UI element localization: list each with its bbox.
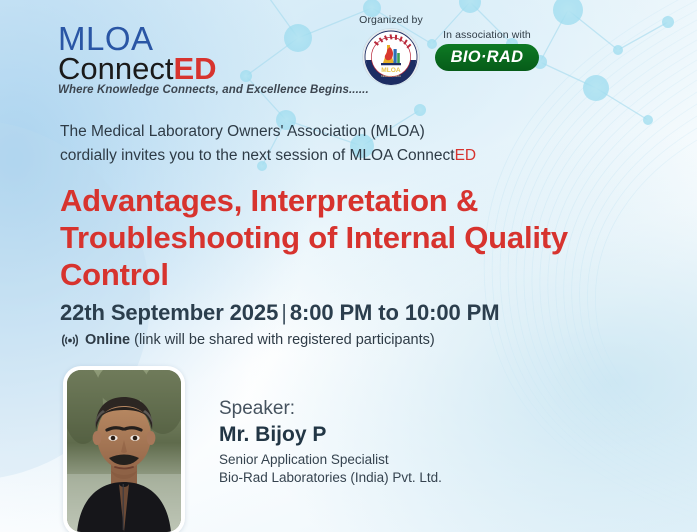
organizer-block: Organized by: [349, 14, 433, 85]
poster-header: MLOA ConnectED Where Knowledge Connects,…: [0, 0, 697, 112]
invitation-ed-accent: ED: [455, 147, 477, 164]
event-poster: MLOA ConnectED Where Knowledge Connects,…: [0, 0, 697, 532]
brand-tagline: Where Knowledge Connects, and Excellence…: [58, 85, 369, 97]
association-block: In association with BIO·RAD: [423, 29, 551, 71]
mloa-connected-logo: MLOA ConnectED Where Knowledge Connects,…: [58, 22, 369, 97]
invitation-line-1: The Medical Laboratory Owners' Associati…: [60, 120, 476, 144]
invitation-line-2: cordially invites you to the next sessio…: [60, 144, 476, 168]
speaker-photo: [67, 370, 181, 532]
bio-rad-logo: BIO·RAD: [435, 44, 539, 71]
speaker-photo-frame: [63, 366, 185, 532]
speaker-name: Mr. Bijoy P: [219, 422, 442, 448]
broadcast-icon: [60, 333, 80, 348]
brand-connect-text: Connect: [58, 51, 173, 86]
session-mode-line: Online (link will be shared with registe…: [60, 332, 435, 348]
datetime-separator: |: [278, 300, 290, 325]
session-datetime: 22th September 2025|8:00 PM to 10:00 PM: [60, 300, 499, 326]
invitation-text: The Medical Laboratory Owners' Associati…: [60, 120, 476, 168]
session-mode: Online: [85, 332, 130, 348]
organized-by-label: Organized by: [349, 14, 433, 26]
seal-subtext: KERALA, INDIA: [381, 74, 401, 78]
in-association-with-label: In association with: [423, 29, 551, 41]
session-time: 8:00 PM to 10:00 PM: [290, 300, 500, 325]
speaker-details: Speaker: Mr. Bijoy P Senior Application …: [219, 398, 442, 488]
speaker-organization: Bio-Rad Laboratories (India) Pvt. Ltd.: [219, 469, 442, 487]
session-title: Advantages, Interpretation & Troubleshoo…: [60, 182, 600, 294]
brand-name-connected: ConnectED: [58, 53, 369, 84]
brand-ed-text: ED: [173, 51, 216, 86]
session-mode-note: (link will be shared with registered par…: [134, 332, 435, 348]
invitation-line-2-text: cordially invites you to the next sessio…: [60, 147, 455, 164]
mloa-seal-logo: MLOA KERALA, INDIA: [363, 29, 419, 85]
speaker-role: Senior Application Specialist: [219, 451, 442, 469]
speaker-label: Speaker:: [219, 398, 442, 420]
session-date: 22th September 2025: [60, 300, 278, 325]
